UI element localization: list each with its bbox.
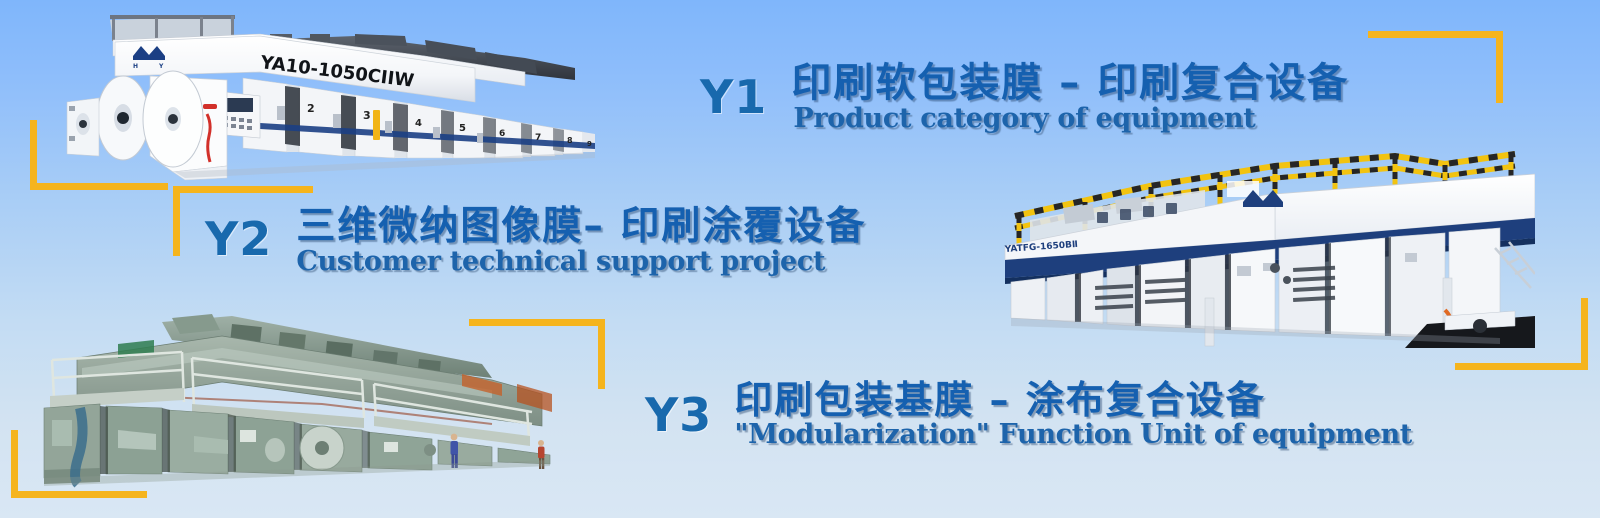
feature-titles-y3: 印刷包装基膜 – 涂布复合设备 "Modularization" Functio… — [734, 380, 1412, 450]
svg-text:9: 9 — [587, 140, 592, 148]
machine-coating-production-line — [22, 308, 577, 498]
svg-text:2: 2 — [307, 102, 315, 115]
feature-title-en-y2: Customer technical support project — [296, 248, 866, 276]
feature-titles-y1: 印刷软包装膜 – 印刷复合设备 Product category of equi… — [791, 62, 1349, 134]
svg-text:3: 3 — [363, 109, 371, 122]
svg-text:7: 7 — [535, 133, 541, 143]
bracket-mid-center-vertical — [598, 319, 605, 389]
bracket-bottom-right-horizontal — [1455, 363, 1588, 370]
svg-text:8: 8 — [567, 136, 573, 145]
feature-title-en-y1: Product category of equipment — [793, 105, 1349, 133]
feature-title-cn-y1: 印刷软包装膜 – 印刷复合设备 — [791, 62, 1349, 104]
feature-code-y1: Y1 — [700, 74, 767, 120]
feature-block-y3: Y3 印刷包装基膜 – 涂布复合设备 "Modularization" Func… — [645, 380, 1412, 450]
promo-banner: H Y YA10-1050CIIW — [0, 0, 1600, 518]
feature-title-cn-y3: 印刷包装基膜 – 涂布复合设备 — [734, 380, 1412, 420]
feature-code-y3: Y3 — [645, 392, 712, 438]
bracket-mid-left-vertical — [173, 186, 180, 256]
bracket-top-right-vertical — [1496, 31, 1503, 103]
feature-block-y1: Y1 印刷软包装膜 – 印刷复合设备 Product category of e… — [700, 62, 1349, 134]
bracket-bottom-right-vertical — [1581, 298, 1588, 370]
svg-text:Y: Y — [158, 63, 164, 70]
machine-coating-laminating: YATFG-1650BⅡ — [975, 148, 1535, 353]
feature-titles-y2: 三维微纳图像膜– 印刷涂覆设备 Customer technical suppo… — [296, 206, 866, 277]
svg-text:6: 6 — [499, 129, 505, 139]
bracket-top-right-horizontal — [1368, 31, 1503, 38]
bracket-mid-left-horizontal — [173, 186, 313, 193]
feature-title-cn-y2: 三维微纳图像膜– 印刷涂覆设备 — [296, 206, 866, 247]
svg-text:5: 5 — [459, 123, 466, 134]
machine-rotogravure-printing-press: H Y YA10-1050CIIW — [55, 6, 600, 181]
feature-title-en-y3: "Modularization" Function Unit of equipm… — [734, 421, 1412, 449]
bracket-top-left-vertical — [30, 120, 37, 190]
svg-text:H: H — [133, 63, 138, 70]
bracket-bottom-left-vertical — [11, 430, 18, 498]
feature-block-y2: Y2 三维微纳图像膜– 印刷涂覆设备 Customer technical su… — [205, 206, 866, 277]
bracket-top-left-horizontal — [30, 183, 168, 190]
feature-code-y2: Y2 — [205, 216, 272, 262]
svg-text:4: 4 — [415, 118, 422, 129]
